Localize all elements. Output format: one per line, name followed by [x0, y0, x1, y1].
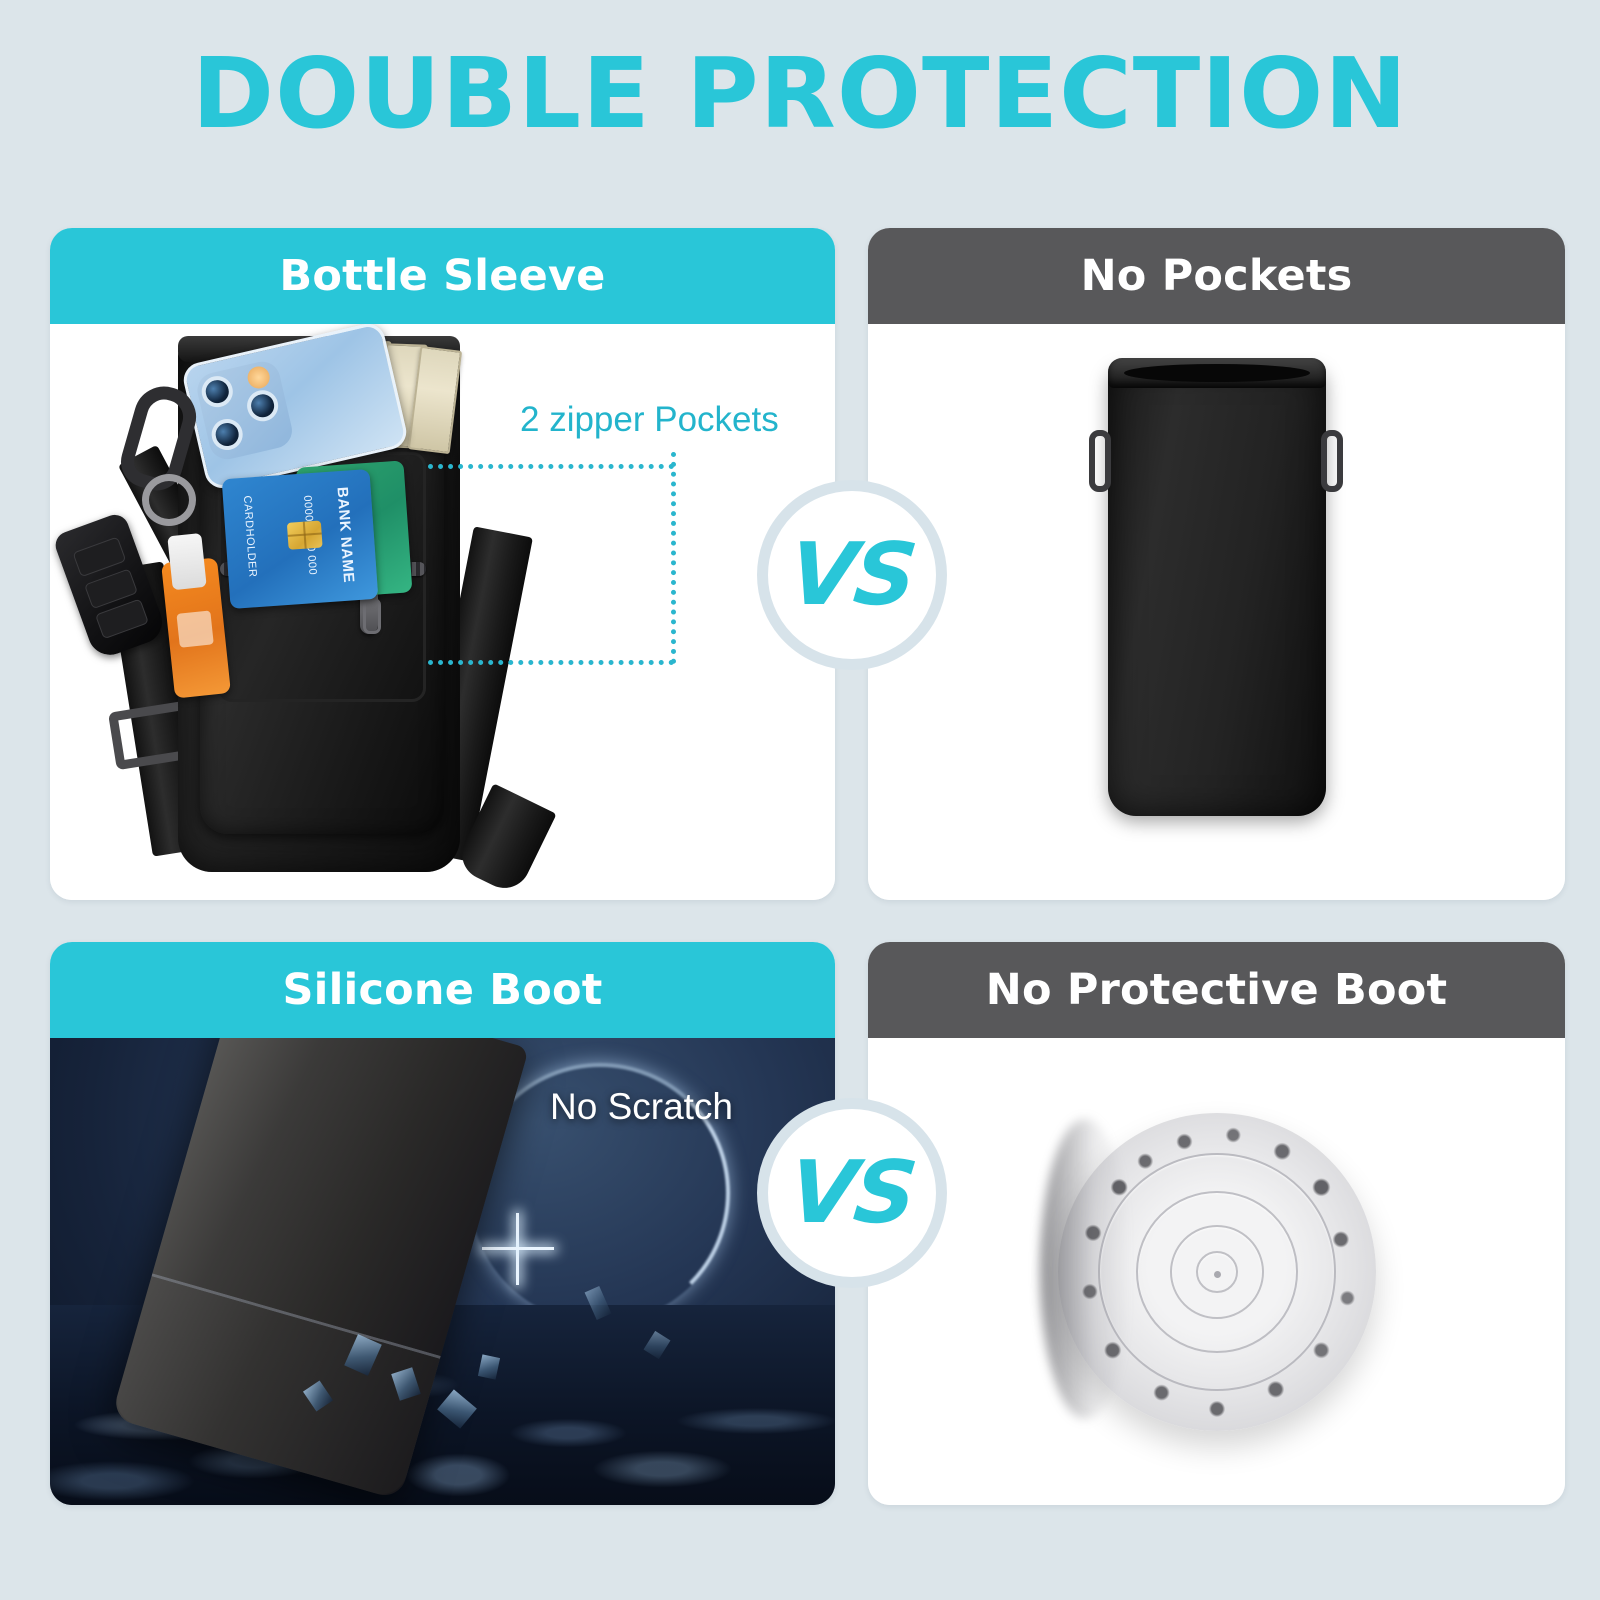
bank-card-primary: BANK NAME 0000 0000 000 CARDHOLDER — [222, 469, 379, 609]
plain-bottle-sleeve-image — [1108, 364, 1326, 816]
d-ring-left — [1089, 430, 1111, 492]
camera-lens-icon — [244, 387, 281, 424]
card-body-no-protective-boot — [868, 1038, 1565, 1505]
card-chip-icon — [287, 521, 323, 550]
annotation-leader-line-vertical — [671, 452, 676, 664]
sparkle-icon — [482, 1213, 554, 1285]
bottle-base — [1058, 1113, 1376, 1431]
comparison-card-bottle-sleeve: Bottle Sleeve — [50, 228, 835, 900]
camera-module — [194, 358, 296, 463]
key-tag-window — [176, 610, 213, 647]
card-header-bottle-sleeve: Bottle Sleeve — [50, 228, 835, 324]
versus-badge-top: VS — [757, 480, 947, 670]
bank-card-holder: CARDHOLDER — [241, 495, 259, 578]
versus-label: VS — [784, 525, 919, 625]
annotation-leader-line-top — [428, 464, 674, 469]
bank-card-bank-name: BANK NAME — [333, 486, 357, 583]
camera-lens-icon — [199, 373, 236, 410]
scratch-specks — [1054, 1109, 1380, 1435]
zipper-pockets-annotation: 2 zipper Pockets — [520, 400, 779, 440]
versus-label: VS — [784, 1143, 919, 1243]
comparison-card-no-protective-boot: No Protective Boot — [868, 942, 1565, 1505]
card-header-no-protective-boot: No Protective Boot — [868, 942, 1565, 1038]
scratched-bottle-image — [868, 1038, 1565, 1505]
annotation-leader-line-bottom — [428, 660, 674, 665]
comparison-card-no-pockets: No Pockets — [868, 228, 1565, 900]
camera-lens-icon — [209, 416, 246, 453]
car-key-fob — [52, 511, 169, 661]
comparison-card-silicone-boot: Silicone Boot No Scratch — [50, 942, 835, 1505]
silicone-boot-product-image: No Scratch — [50, 1038, 835, 1505]
key-ring — [142, 474, 196, 526]
card-body-no-pockets — [868, 324, 1565, 900]
no-scratch-label: No Scratch — [550, 1086, 733, 1128]
camera-flash-icon — [245, 364, 271, 390]
versus-badge-bottom: VS — [757, 1098, 947, 1288]
plain-sleeve-opening — [1124, 364, 1310, 382]
card-header-silicone-boot: Silicone Boot — [50, 942, 835, 1038]
card-body-silicone-boot: No Scratch — [50, 1038, 835, 1505]
d-ring-right — [1321, 430, 1343, 492]
page-title: DOUBLE PROTECTION — [0, 42, 1600, 147]
card-header-no-pockets: No Pockets — [868, 228, 1565, 324]
